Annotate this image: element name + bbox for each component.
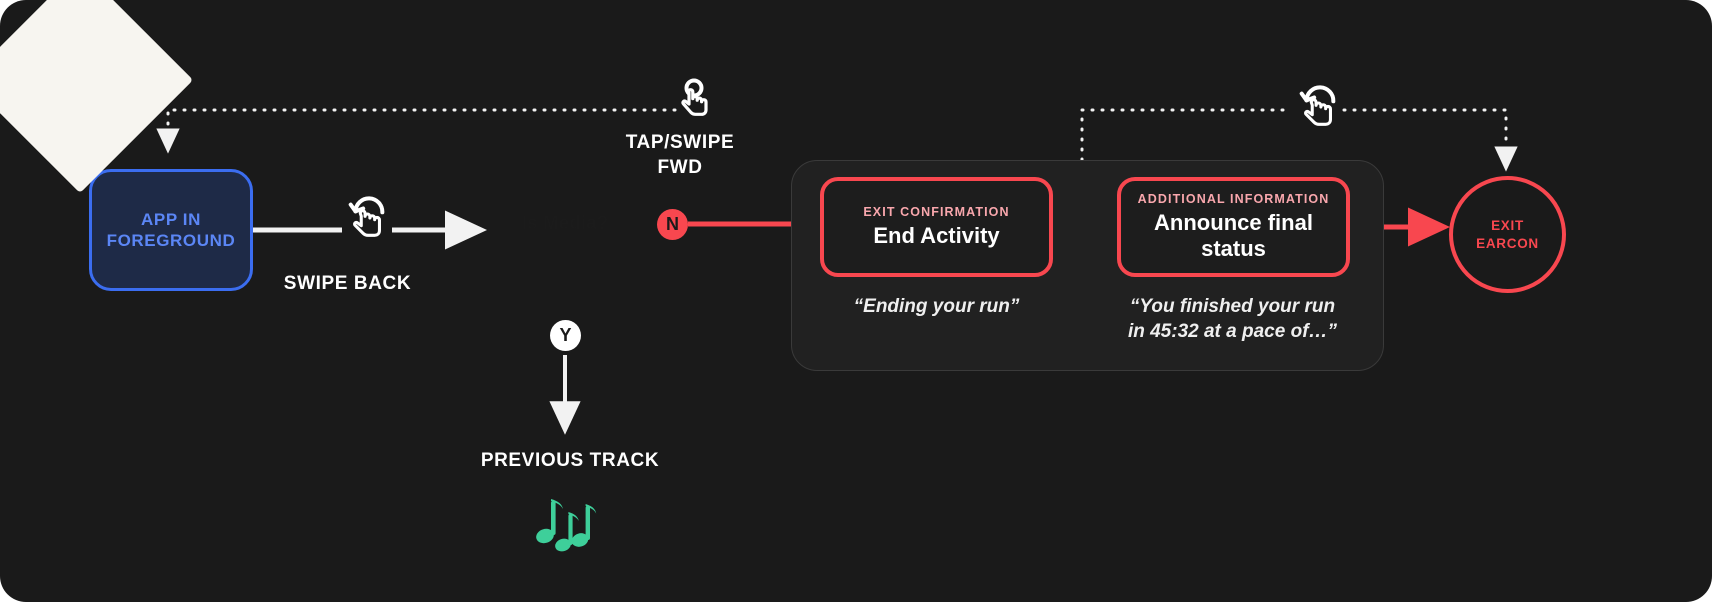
branch-badge-yes: Y	[550, 320, 581, 351]
label-previous-track: PREVIOUS TRACK	[420, 450, 720, 472]
edge-group-up-dotted	[1082, 110, 1292, 160]
swipe-back-gesture-icon	[1295, 85, 1341, 131]
card-exit-confirmation[interactable]: EXIT CONFIRMATION End Activity	[820, 177, 1053, 277]
card-exit-kicker: EXIT CONFIRMATION	[863, 205, 1009, 219]
earcon-line1: EXIT	[1491, 217, 1524, 235]
node-exit-earcon[interactable]: EXIT EARCON	[1449, 176, 1566, 293]
app-foreground-line1: APP IN	[141, 209, 201, 230]
label-tap-swipe-line2: FWD	[580, 155, 780, 180]
earcon-line2: EARCON	[1476, 235, 1539, 253]
card-additional-information[interactable]: ADDITIONAL INFORMATION Announce final st…	[1117, 177, 1350, 277]
caption-exit-confirmation: “Ending your run”	[810, 295, 1063, 320]
swipe-back-gesture-icon	[344, 196, 390, 242]
card-info-title: Announce final status	[1135, 210, 1332, 261]
tap-gesture-icon	[672, 78, 716, 126]
app-foreground-line2: FOREGROUND	[107, 230, 236, 251]
card-info-kicker: ADDITIONAL INFORMATION	[1138, 192, 1330, 206]
label-swipe-back: SWIPE BACK	[240, 273, 455, 295]
diagram-canvas: APP IN FOREGROUND Is Media? N Y EXIT CON…	[0, 0, 1712, 602]
branch-badge-no: N	[657, 209, 688, 240]
node-decision-is-media[interactable]	[0, 0, 193, 193]
caption-additional-information: “You finished your run in 45:32 at a pac…	[1100, 295, 1365, 344]
edge-to-earcon-dotted	[1344, 110, 1506, 168]
caption-info-line2: in 45:32 at a pace of…”	[1100, 320, 1365, 345]
label-tap-swipe-line1: TAP/SWIPE	[580, 130, 780, 155]
caption-info-line1: “You finished your run	[1100, 295, 1365, 320]
card-exit-title: End Activity	[873, 223, 999, 249]
label-tap-swipe-fwd: TAP/SWIPE FWD	[580, 130, 780, 180]
music-notes-icon	[533, 495, 599, 553]
node-app-in-foreground[interactable]: APP IN FOREGROUND	[89, 169, 253, 291]
